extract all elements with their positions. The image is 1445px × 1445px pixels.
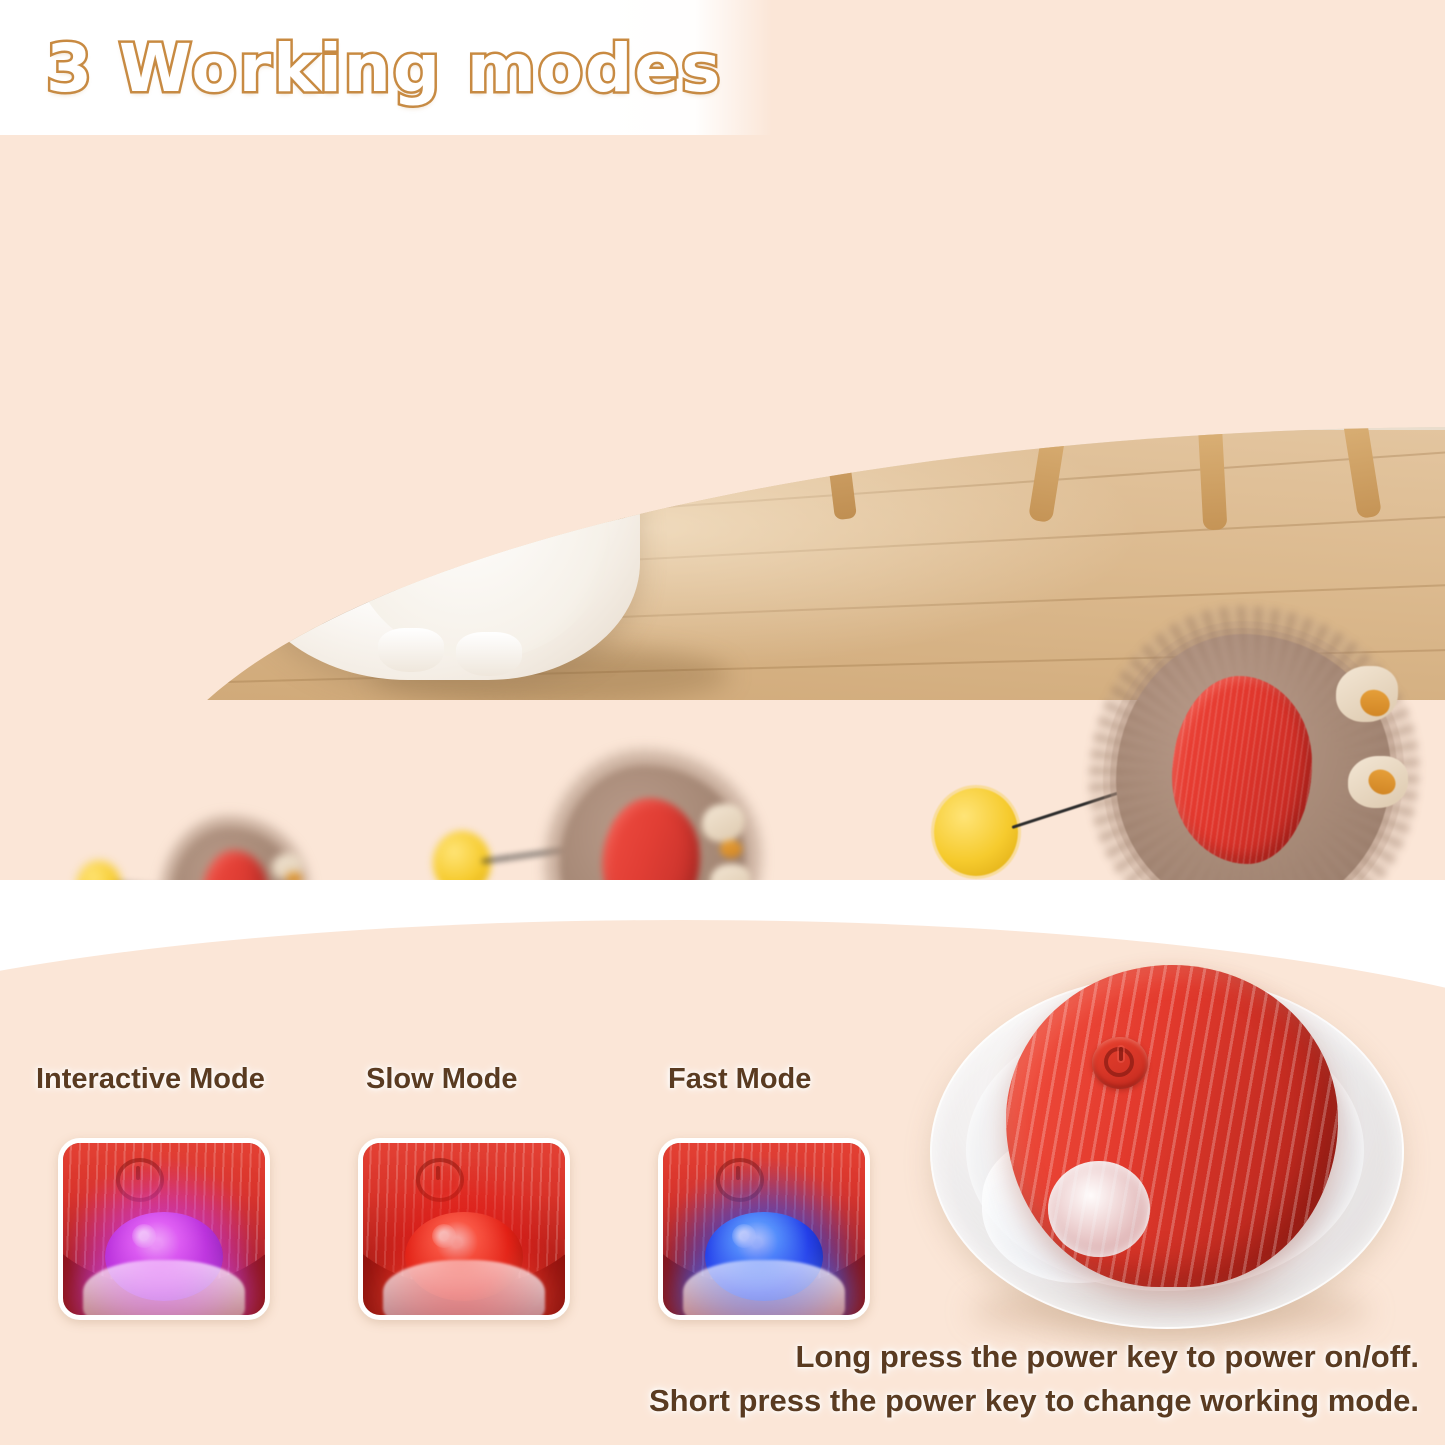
led-glow: [363, 1143, 565, 1315]
pom-pom: [934, 788, 1018, 876]
armchair-arm: [970, 170, 1100, 390]
cat-paw-right: [456, 632, 522, 676]
led-glow: [663, 1143, 865, 1315]
power-icon: [1104, 1047, 1134, 1077]
cat-ear-right: [530, 198, 602, 284]
product-infographic: Interactive Mode Slow Mode Fast Mode: [0, 0, 1445, 1445]
paw-claw-tip: [720, 840, 742, 858]
mode-thumbnail-slow[interactable]: [358, 1138, 570, 1320]
cat-eye-left: [416, 294, 462, 328]
cat-whisker: [570, 306, 717, 342]
mode-label-fast: Fast Mode: [668, 1063, 811, 1096]
cat-ruff: [310, 340, 610, 530]
cat-head: [375, 225, 600, 425]
mode-thumbnail-interactive[interactable]: [58, 1138, 270, 1320]
cat-whisker: [570, 366, 727, 385]
instruction-line-1: Long press the power key to power on/off…: [649, 1335, 1419, 1379]
mode-thumbnail-fast[interactable]: [658, 1138, 870, 1320]
drive-wheel: [1048, 1161, 1150, 1257]
cat-eye-right: [496, 292, 542, 326]
cat-chest: [350, 420, 610, 660]
cat-face-mask: [405, 242, 570, 347]
title-banner: 3 Working modes: [0, 0, 772, 135]
page-title: 3 Working modes: [46, 30, 722, 107]
instructions-block: Long press the power key to power on/off…: [649, 1335, 1419, 1423]
red-silicone-ball: [1006, 965, 1338, 1287]
led-glow: [63, 1143, 265, 1315]
cat-ear-left: [368, 200, 440, 286]
power-button[interactable]: [1092, 1037, 1148, 1089]
throw-blanket: [1325, 0, 1445, 230]
nightstand-leg-left: [605, 379, 642, 521]
basket-handle-ring: [140, 251, 214, 331]
armchair-base: [990, 300, 1400, 410]
mode-label-interactive: Interactive Mode: [36, 1063, 265, 1096]
cat-whisker: [566, 380, 707, 422]
ragdoll-cat: [200, 190, 720, 690]
white-vase: [820, 0, 892, 16]
armchair-back: [995, 0, 1385, 270]
product-hero-image: [930, 965, 1420, 1335]
cat-whisker: [572, 340, 737, 354]
instruction-line-2: Short press the power key to change work…: [649, 1379, 1419, 1423]
mode-label-slow: Slow Mode: [366, 1063, 517, 1096]
nightstand-side: [820, 0, 960, 390]
cat-mouth: [462, 356, 504, 378]
red-ball: [1172, 676, 1312, 864]
cat-nose: [472, 338, 494, 353]
paw-toy-large: [920, 620, 1445, 920]
cat-paw-left: [378, 628, 444, 672]
paw-claw: [702, 804, 744, 842]
armchair-seat: [995, 210, 1395, 335]
cat-whisker: [560, 390, 678, 449]
rattan-basket: [55, 295, 255, 525]
